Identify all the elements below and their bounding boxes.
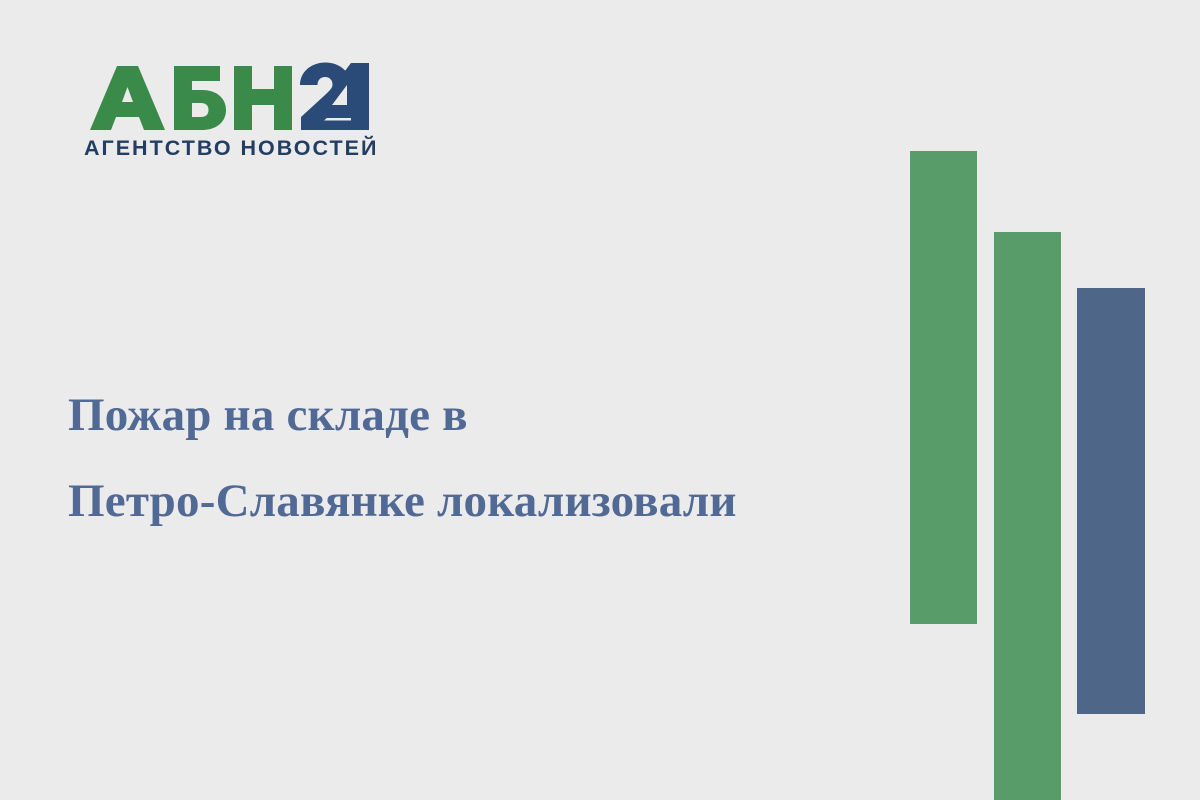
logo-wordmark-icon: [84, 58, 374, 136]
headline-line-2: Петро-Славянке локализовали: [68, 458, 868, 544]
decorative-bar-3: [1077, 288, 1145, 714]
logo-tagline: АГЕНТСТВО НОВОСТЕЙ: [84, 138, 374, 160]
decorative-bar-1: [910, 151, 977, 624]
news-card: АГЕНТСТВО НОВОСТЕЙ Пожар на складе в Пет…: [0, 0, 1200, 800]
headline: Пожар на складе в Петро-Славянке локализ…: [68, 372, 868, 544]
decorative-bar-2: [994, 232, 1061, 800]
headline-line-1: Пожар на складе в: [68, 372, 868, 458]
abn24-logo[interactable]: АГЕНТСТВО НОВОСТЕЙ: [84, 58, 374, 160]
